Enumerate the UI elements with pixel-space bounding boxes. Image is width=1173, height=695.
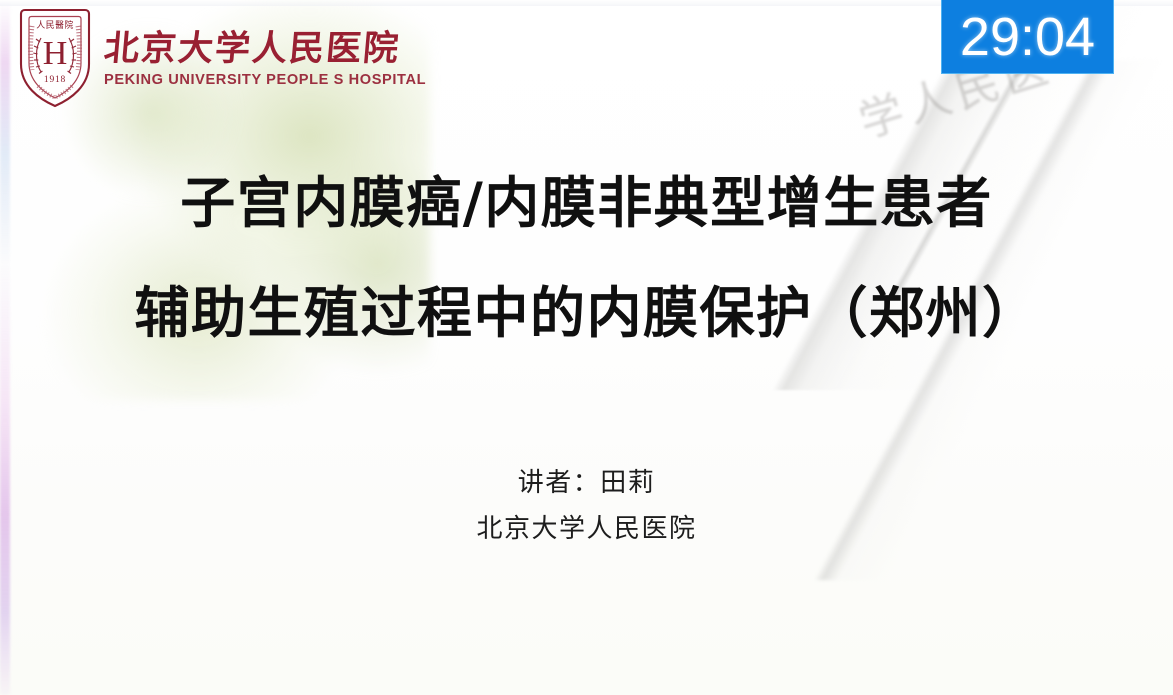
presentation-video-frame: 学人民医 人民醫院 xyxy=(0,0,1173,695)
countdown-timer-value: 29:04 xyxy=(960,10,1095,64)
hospital-logo: 人民醫院 H 1918 北京大学人民医院 PEKING UNIVERSITY P… xyxy=(16,6,426,110)
hospital-name-en: PEKING UNIVERSITY PEOPLE S HOSPITAL xyxy=(104,72,426,88)
hospital-logo-text: 北京大学人民医院 PEKING UNIVERSITY PEOPLE S HOSP… xyxy=(104,28,426,88)
slide-title-line-1: 子宫内膜癌/内膜非典型增生患者 xyxy=(0,176,1173,231)
svg-text:H: H xyxy=(43,35,68,72)
svg-text:人民醫院: 人民醫院 xyxy=(36,19,74,30)
countdown-timer-badge: 29:04 xyxy=(941,0,1114,74)
svg-text:1918: 1918 xyxy=(44,75,66,85)
slide-speaker-name: 讲者：田莉 xyxy=(0,470,1173,496)
background-edge-fringe-left xyxy=(0,0,10,695)
background-roofline xyxy=(700,60,1173,580)
slide-title-line-2: 辅助生殖过程中的内膜保护（郑州） xyxy=(0,286,1173,341)
shield-crest-icon: 人民醫院 H 1918 xyxy=(16,6,94,110)
hospital-name-cn: 北京大学人民医院 xyxy=(102,28,428,71)
slide-speaker-affiliation: 北京大学人民医院 xyxy=(0,516,1173,542)
